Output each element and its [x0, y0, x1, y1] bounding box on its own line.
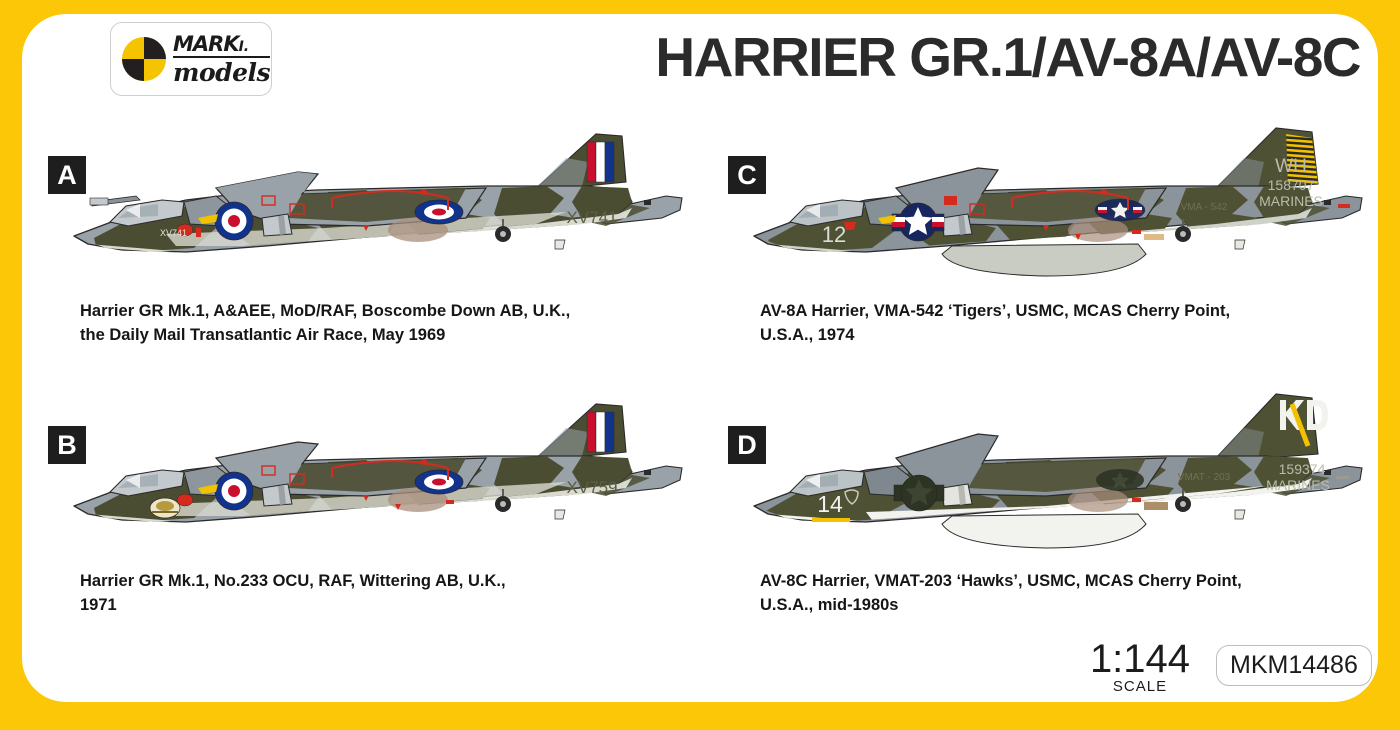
caption-a: Harrier GR Mk.1, A&AEE, MoD/RAF, Boscomb…: [80, 300, 700, 348]
profile-grid: A: [0, 118, 1400, 678]
nose-number-c: 12: [822, 222, 846, 247]
tail-serial-b: XV759: [566, 478, 617, 497]
nose-serial-a: XV741: [160, 228, 187, 238]
fin-flash-red: [587, 142, 596, 182]
caption-b-line2: 1971: [80, 594, 700, 618]
nose-number-d: 14: [817, 491, 843, 517]
profile-card-b: B: [48, 388, 708, 658]
bureau-number-d: 159374: [1279, 461, 1326, 477]
tail-code-c: WH: [1275, 156, 1307, 177]
fin-flash-white: [596, 142, 605, 182]
caption-c: AV-8A Harrier, VMA-542 ‘Tigers’, USMC, M…: [760, 300, 1380, 348]
page-title: HARRIER GR.1/AV-8A/AV-8C: [600, 24, 1360, 90]
fin-flash-blue: [605, 142, 614, 182]
service-text-c: MARINES: [1259, 193, 1323, 209]
roundel-rear-a: [415, 200, 463, 224]
caption-c-line1: AV-8A Harrier, VMA-542 ‘Tigers’, USMC, M…: [760, 300, 1380, 324]
aircraft-profile-c: WH 158707 MARINES VMA - 542 12: [746, 118, 1386, 288]
logo-models-text: models: [173, 60, 270, 85]
centerline-store-c: [942, 244, 1146, 276]
aircraft-profile-b: XV759: [66, 388, 706, 558]
caption-b: Harrier GR Mk.1, No.233 OCU, RAF, Witter…: [80, 570, 700, 618]
mark-i-pie-icon: [121, 36, 167, 82]
caption-a-line2: the Daily Mail Transatlantic Air Race, M…: [80, 324, 700, 348]
kit-number-badge: MKM14486: [1216, 645, 1372, 686]
profile-card-d: D: [728, 388, 1388, 658]
caption-d: AV-8C Harrier, VMAT-203 ‘Hawks’, USMC, M…: [760, 570, 1380, 618]
nose-yellow-stripe-d: [812, 518, 850, 522]
brand-logo: MARKI. models: [110, 22, 272, 96]
caption-d-line1: AV-8C Harrier, VMAT-203 ‘Hawks’, USMC, M…: [760, 570, 1380, 594]
profile-card-a: A: [48, 118, 708, 388]
roundel-nose-a: [215, 202, 253, 240]
logo-mark-text: MARKI.: [173, 34, 270, 58]
centerline-store-d: [942, 514, 1146, 548]
roundel-rear-b: [415, 470, 463, 494]
bureau-number-c: 158707: [1268, 177, 1315, 193]
squadron-crest-b: [150, 498, 180, 518]
profile-card-c: C: [728, 118, 1388, 388]
aircraft-profile-d: 159374 MARINES VMAT - 203 14: [746, 388, 1386, 558]
decal-sheet: MARKI. models HARRIER GR.1/AV-8A/AV-8C A: [0, 0, 1400, 730]
scale-block: 1:144 SCALE: [1070, 640, 1210, 695]
service-text-d: MARINES: [1266, 477, 1330, 493]
scale-value: 1:144: [1070, 640, 1210, 678]
star-and-bar-rear-c: [1095, 199, 1145, 221]
unit-text-c: VMA - 542: [1181, 202, 1228, 213]
star-and-bar-rear-d: [1096, 469, 1144, 491]
tail-serial-a: XV741: [566, 208, 617, 227]
caption-c-line2: U.S.A., 1974: [760, 324, 1380, 348]
caption-d-line2: U.S.A., mid-1980s: [760, 594, 1380, 618]
unit-text-d: VMAT - 203: [1178, 472, 1231, 483]
caption-a-line1: Harrier GR Mk.1, A&AEE, MoD/RAF, Boscomb…: [80, 300, 700, 324]
aircraft-profile-a: XV741 XV741: [66, 118, 706, 288]
roundel-nose-b: [215, 472, 253, 510]
caption-b-line1: Harrier GR Mk.1, No.233 OCU, RAF, Witter…: [80, 570, 700, 594]
